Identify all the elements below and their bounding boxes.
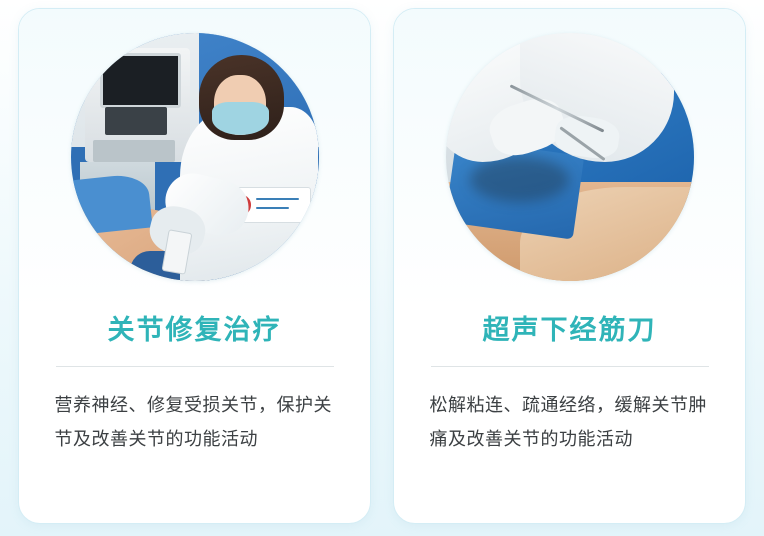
card-photo-circle <box>71 33 319 281</box>
card-divider <box>431 366 709 367</box>
feature-card-joint-repair-treatment[interactable]: 关节修复治疗 营养神经、修复受损关节，保护关节及改善关节的功能活动 <box>18 8 371 524</box>
gloved-hands-needle-knee-photo <box>446 33 694 281</box>
blue-surgical-drape <box>71 172 153 236</box>
card-description: 营养神经、修复受损关节，保护关节及改善关节的功能活动 <box>55 389 335 457</box>
card-divider <box>56 366 334 367</box>
ultrasound-secondary-screen <box>105 107 167 134</box>
ultrasound-screen <box>100 53 180 109</box>
doctor-ultrasound-knee-photo <box>71 33 319 281</box>
card-title: 关节修复治疗 <box>108 317 282 344</box>
doctor-face-mask <box>212 102 269 134</box>
feature-card-ultrasound-guided-needle-knife[interactable]: 超声下经筋刀 松解粘连、疏通经络，缓解关节肿痛及改善关节的功能活动 <box>393 8 746 524</box>
feature-cards-page: 关节修复治疗 营养神经、修复受损关节，保护关节及改善关节的功能活动 超声下经筋刀 <box>0 0 764 536</box>
photo-shadow <box>470 157 569 202</box>
card-description: 松解粘连、疏通经络，缓解关节肿痛及改善关节的功能活动 <box>430 389 710 457</box>
card-title: 超声下经筋刀 <box>483 317 657 344</box>
badge-text-line <box>256 198 300 200</box>
card-photo-circle <box>446 33 694 281</box>
badge-text-line <box>256 207 290 209</box>
ultrasound-keyboard <box>93 140 175 162</box>
